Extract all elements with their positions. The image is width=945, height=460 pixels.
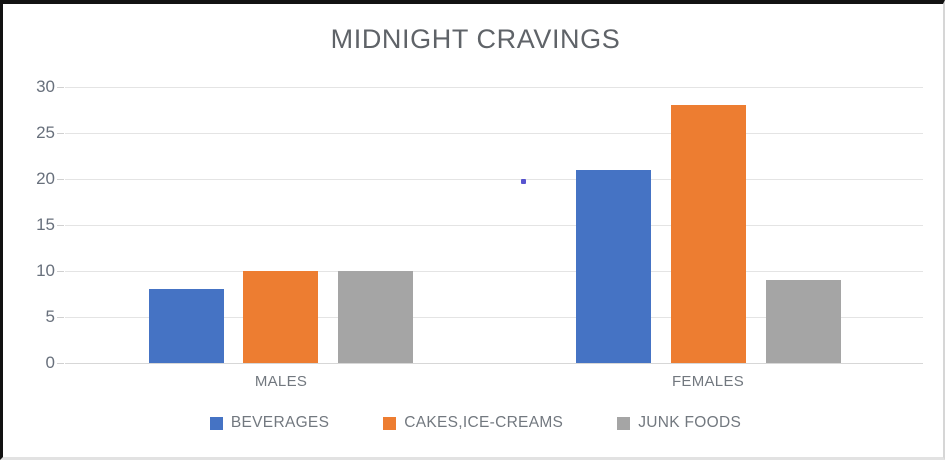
gridline-15 bbox=[65, 225, 923, 226]
y-tick-mark-5 bbox=[57, 317, 64, 318]
bar-chart-image: MIDNIGHT CRAVINGS 30 25 20 15 10 5 0 MAL bbox=[0, 0, 945, 460]
bar-females-junk-foods bbox=[766, 280, 841, 363]
legend-label-cakes-ice-creams: CAKES,ICE-CREAMS bbox=[404, 414, 563, 432]
legend-swatch-junk-foods-icon bbox=[617, 417, 630, 430]
y-tick-label-0: 0 bbox=[11, 353, 55, 373]
y-tick-mark-25 bbox=[57, 133, 64, 134]
y-tick-mark-0 bbox=[57, 363, 64, 364]
y-tick-label-25: 25 bbox=[11, 123, 55, 143]
x-category-label-males: MALES bbox=[255, 373, 307, 390]
chart-title: MIDNIGHT CRAVINGS bbox=[3, 24, 945, 55]
legend-swatch-cakes-ice-creams-icon bbox=[383, 417, 396, 430]
bar-males-junk-foods bbox=[338, 271, 413, 363]
y-tick-mark-15 bbox=[57, 225, 64, 226]
y-tick-label-20: 20 bbox=[11, 169, 55, 189]
chart-legend: BEVERAGES CAKES,ICE-CREAMS JUNK FOODS bbox=[3, 414, 945, 432]
y-tick-label-10: 10 bbox=[11, 261, 55, 281]
bar-females-beverages bbox=[576, 170, 651, 363]
plot-area bbox=[65, 87, 923, 363]
y-axis: 30 25 20 15 10 5 0 bbox=[3, 87, 55, 363]
legend-label-junk-foods: JUNK FOODS bbox=[638, 414, 741, 432]
gridline-30 bbox=[65, 87, 923, 88]
legend-item-junk-foods[interactable]: JUNK FOODS bbox=[617, 414, 741, 432]
bar-males-cakes-ice-creams bbox=[243, 271, 318, 363]
y-tick-label-5: 5 bbox=[11, 307, 55, 327]
gridline-25 bbox=[65, 133, 923, 134]
legend-swatch-beverages-icon bbox=[210, 417, 223, 430]
y-tick-mark-10 bbox=[57, 271, 64, 272]
legend-item-beverages[interactable]: BEVERAGES bbox=[210, 414, 329, 432]
gridline-20 bbox=[65, 179, 923, 180]
y-tick-mark-30 bbox=[57, 87, 64, 88]
y-tick-mark-20 bbox=[57, 179, 64, 180]
y-tick-label-30: 30 bbox=[11, 77, 55, 97]
bar-males-beverages bbox=[149, 289, 224, 363]
x-category-label-females: FEMALES bbox=[672, 373, 744, 390]
bar-females-cakes-ice-creams bbox=[671, 105, 746, 363]
stray-dot-artifact bbox=[521, 179, 526, 184]
legend-item-cakes-ice-creams[interactable]: CAKES,ICE-CREAMS bbox=[383, 414, 563, 432]
gridline-10 bbox=[65, 271, 923, 272]
gridline-0 bbox=[65, 363, 923, 364]
y-tick-label-15: 15 bbox=[11, 215, 55, 235]
legend-label-beverages: BEVERAGES bbox=[231, 414, 329, 432]
